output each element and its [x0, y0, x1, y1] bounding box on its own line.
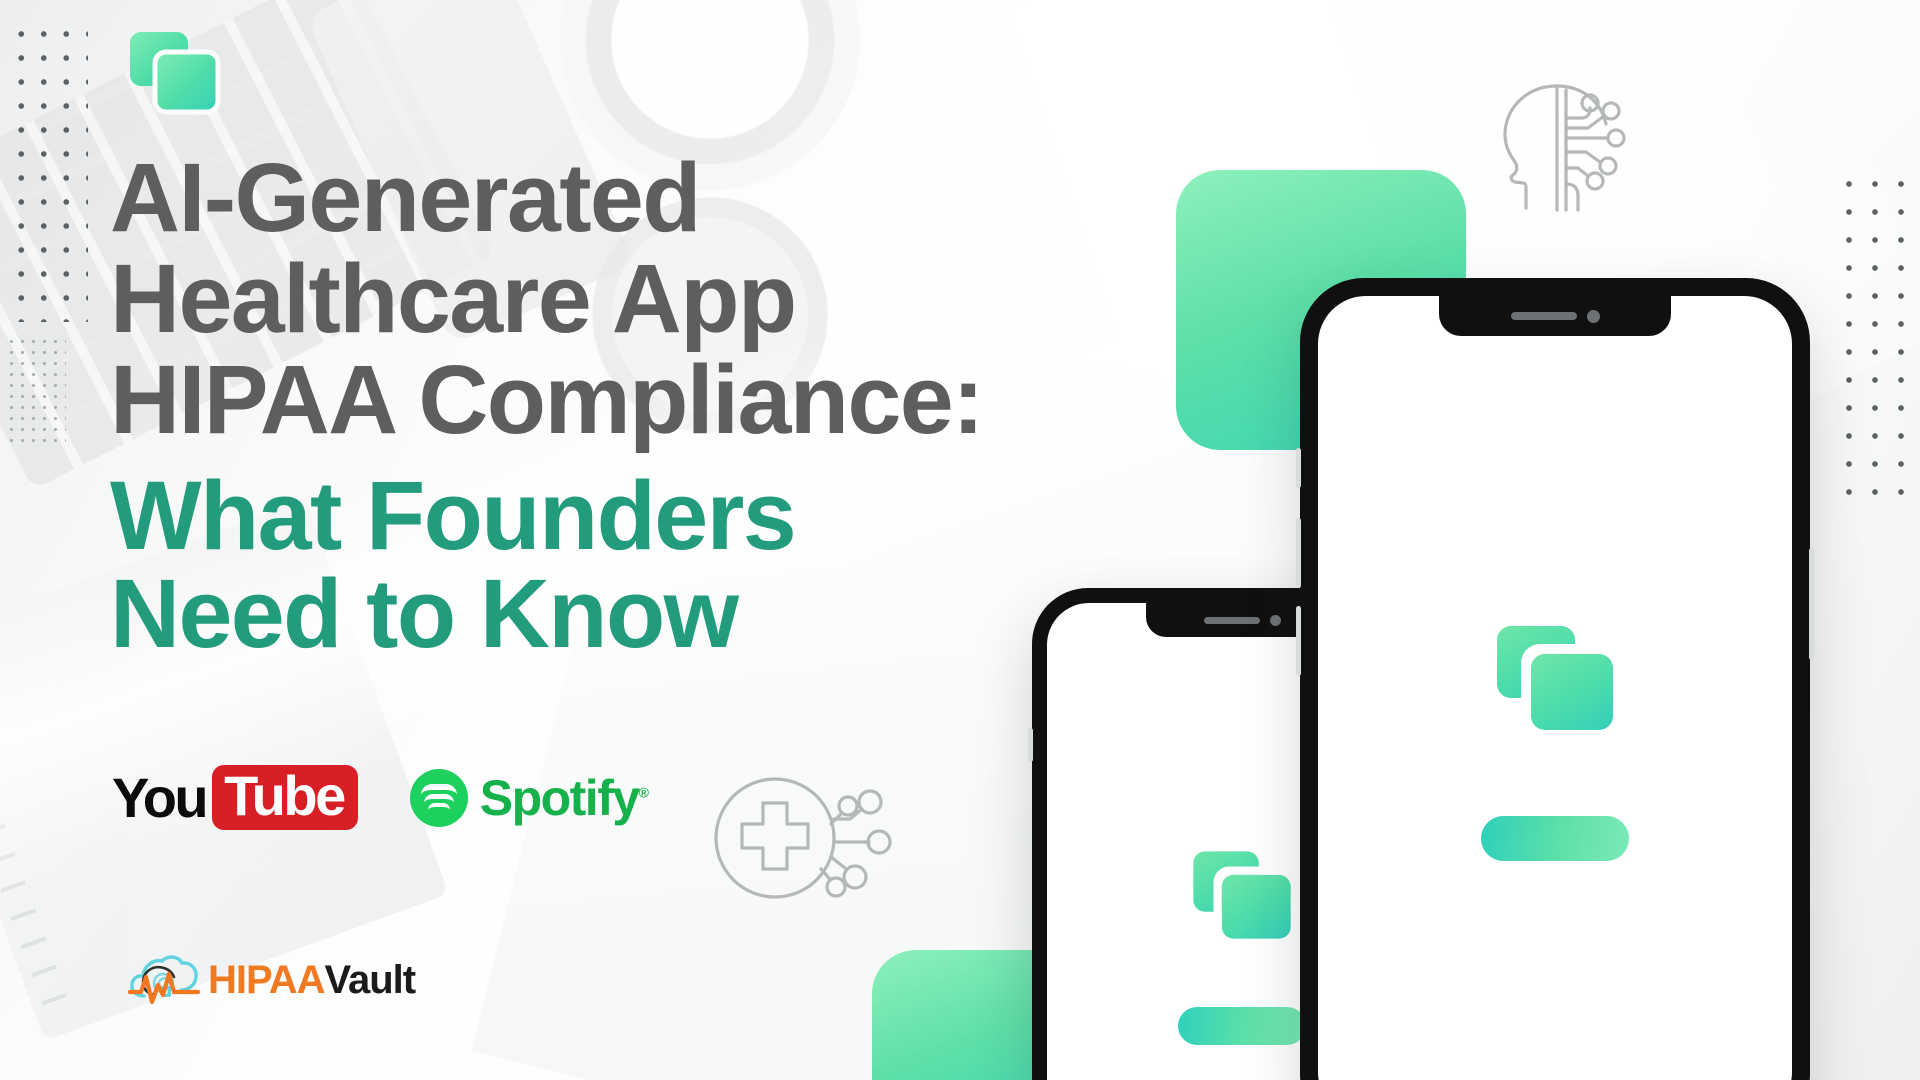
youtube-logo[interactable]: You Tube [112, 765, 358, 830]
hipaavault-wordmark: HIPAAVault [208, 960, 415, 1000]
youtube-wordmark-you: You [112, 770, 206, 826]
primary-action-bar[interactable] [1178, 1007, 1306, 1045]
phone-large-screen [1318, 296, 1792, 1080]
front-camera-icon [1270, 615, 1281, 626]
phone-side-button [1028, 728, 1033, 762]
primary-action-bar[interactable] [1481, 816, 1629, 861]
brand-wordmark-vault: Vault [324, 960, 415, 1000]
phone-volume-up-button [1296, 518, 1301, 588]
spotify-icon [410, 769, 468, 827]
phone-notch [1439, 296, 1671, 336]
headline-line-2: Healthcare App [110, 251, 1230, 347]
dot-grid-left-fine [6, 336, 66, 446]
platform-logos: You Tube Spotify® [112, 765, 647, 830]
youtube-wordmark-tube: Tube [224, 764, 344, 827]
youtube-red-box: Tube [212, 765, 358, 830]
brand-wordmark-hipaa: HIPAA [208, 960, 324, 1000]
registered-mark: ® [639, 784, 648, 800]
medical-cross-circuit-icon [707, 765, 897, 915]
headline-line-3: HIPAA Compliance: [110, 352, 1230, 448]
dot-grid-left [10, 22, 88, 322]
page-title: AI-Generated Healthcare App HIPAA Compli… [110, 150, 1230, 662]
dot-grid-right [1836, 170, 1908, 510]
phone-mockup-large [1300, 278, 1810, 1080]
spotify-wordmark: Spotify® [480, 773, 648, 823]
earpiece-speaker [1511, 312, 1577, 320]
spotify-wordmark-text: Spotify [480, 770, 639, 826]
stacked-squares-icon [128, 30, 224, 116]
phone-mute-switch [1296, 448, 1301, 488]
spotify-logo[interactable]: Spotify® [410, 769, 648, 827]
headline-line-5: Need to Know [110, 566, 1230, 662]
phone-power-button [1809, 548, 1814, 660]
headline-line-1: AI-Generated [110, 150, 1230, 246]
hipaavault-logo[interactable]: HIPAAVault [128, 950, 415, 1010]
front-camera-icon [1587, 310, 1600, 323]
banner-canvas: AI-Generated Healthcare App HIPAA Compli… [0, 0, 1920, 1080]
stacked-squares-icon [1497, 626, 1613, 730]
headline-line-4: What Founders [110, 468, 1230, 564]
phone-volume-down-button [1296, 606, 1301, 676]
cloud-pulse-lock-icon [128, 950, 200, 1010]
ai-head-circuit-icon [1487, 72, 1637, 222]
stacked-squares-icon [1193, 851, 1290, 938]
